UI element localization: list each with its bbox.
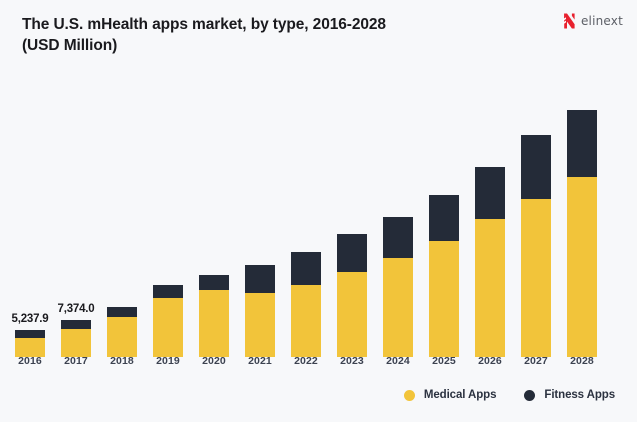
bar-stack — [291, 252, 321, 357]
bar-segment-medical-apps-2021[interactable] — [245, 293, 275, 357]
x-tick-label-2024: 2024 — [378, 355, 418, 367]
bar-segment-fitness-apps-2023[interactable] — [337, 234, 367, 272]
bar-segment-fitness-apps-2019[interactable] — [153, 285, 183, 298]
bar-group-2026[interactable] — [475, 82, 505, 357]
bar-segment-fitness-apps-2017[interactable] — [61, 320, 91, 329]
bar-segment-fitness-apps-2021[interactable] — [245, 265, 275, 293]
legend-label: Fitness Apps — [544, 389, 615, 401]
bar-value-label-2016: 5,237.9 — [12, 313, 49, 325]
chart-card: The U.S. mHealth apps market, by type, 2… — [0, 0, 637, 422]
bar-group-2021[interactable] — [245, 82, 275, 357]
bar-segment-medical-apps-2020[interactable] — [199, 290, 229, 357]
x-tick-label-2018: 2018 — [102, 355, 142, 367]
chart-header: The U.S. mHealth apps market, by type, 2… — [0, 0, 637, 72]
x-tick-label-2026: 2026 — [470, 355, 510, 367]
x-tick-label-2027: 2027 — [516, 355, 556, 367]
bar-stack — [107, 307, 137, 357]
x-tick-label-2025: 2025 — [424, 355, 464, 367]
page-title: The U.S. mHealth apps market, by type, 2… — [22, 14, 522, 56]
bar-segment-fitness-apps-2020[interactable] — [199, 275, 229, 290]
bar-stack — [337, 234, 367, 357]
bar-group-2027[interactable] — [521, 82, 551, 357]
legend-swatch-icon — [524, 390, 535, 401]
x-tick-label-2016: 2016 — [10, 355, 50, 367]
bar-segment-fitness-apps-2018[interactable] — [107, 307, 137, 317]
bar-stack — [15, 330, 45, 357]
bar-stack — [199, 275, 229, 357]
plot-area: 5,237.97,374.0 — [0, 72, 637, 357]
bar-stack — [567, 110, 597, 357]
bar-segment-medical-apps-2018[interactable] — [107, 317, 137, 357]
bar-segment-fitness-apps-2025[interactable] — [429, 195, 459, 241]
x-tick-label-2019: 2019 — [148, 355, 188, 367]
brand-name: elinext — [581, 14, 623, 28]
bar-stack — [521, 135, 551, 357]
bar-segment-medical-apps-2025[interactable] — [429, 241, 459, 357]
bar-group-2028[interactable] — [567, 82, 597, 357]
bar-group-2018[interactable] — [107, 82, 137, 357]
bar-group-2019[interactable] — [153, 82, 183, 357]
bar-value-label-2017: 7,374.0 — [58, 303, 95, 315]
x-axis: 2016201720182019202020212022202320242025… — [0, 355, 637, 375]
x-tick-label-2022: 2022 — [286, 355, 326, 367]
legend-label: Medical Apps — [424, 389, 497, 401]
brand-logo: elinext — [563, 12, 623, 30]
legend-item-fitness-apps[interactable]: Fitness Apps — [524, 389, 615, 401]
bar-segment-medical-apps-2023[interactable] — [337, 272, 367, 357]
legend-swatch-icon — [404, 390, 415, 401]
bar-segment-medical-apps-2019[interactable] — [153, 298, 183, 357]
bar-segment-fitness-apps-2016[interactable] — [15, 330, 45, 338]
bar-group-2016[interactable]: 5,237.9 — [15, 82, 45, 357]
bar-stack — [475, 167, 505, 357]
bar-stack — [383, 217, 413, 357]
bar-stack — [245, 265, 275, 357]
x-tick-label-2023: 2023 — [332, 355, 372, 367]
bar-segment-medical-apps-2028[interactable] — [567, 177, 597, 357]
bar-group-2020[interactable] — [199, 82, 229, 357]
bar-group-2023[interactable] — [337, 82, 367, 357]
bar-group-2025[interactable] — [429, 82, 459, 357]
bar-group-2022[interactable] — [291, 82, 321, 357]
bar-segment-fitness-apps-2026[interactable] — [475, 167, 505, 219]
x-tick-label-2021: 2021 — [240, 355, 280, 367]
bar-stack — [153, 285, 183, 357]
bar-segment-fitness-apps-2028[interactable] — [567, 110, 597, 177]
bar-segment-fitness-apps-2022[interactable] — [291, 252, 321, 285]
x-tick-label-2028: 2028 — [562, 355, 602, 367]
bar-segment-medical-apps-2024[interactable] — [383, 258, 413, 357]
elinext-n-logo-icon — [563, 13, 576, 29]
bar-segment-fitness-apps-2024[interactable] — [383, 217, 413, 258]
bar-segment-medical-apps-2022[interactable] — [291, 285, 321, 357]
chart-legend: Medical AppsFitness Apps — [0, 384, 637, 406]
bar-stack — [61, 320, 91, 357]
x-tick-label-2017: 2017 — [56, 355, 96, 367]
bar-segment-medical-apps-2027[interactable] — [521, 199, 551, 357]
bar-stack — [429, 195, 459, 357]
bar-group-2017[interactable]: 7,374.0 — [61, 82, 91, 357]
x-tick-label-2020: 2020 — [194, 355, 234, 367]
bar-segment-medical-apps-2026[interactable] — [475, 219, 505, 357]
bar-group-2024[interactable] — [383, 82, 413, 357]
bar-segment-fitness-apps-2027[interactable] — [521, 135, 551, 199]
legend-item-medical-apps[interactable]: Medical Apps — [404, 389, 497, 401]
bar-segment-medical-apps-2017[interactable] — [61, 329, 91, 357]
